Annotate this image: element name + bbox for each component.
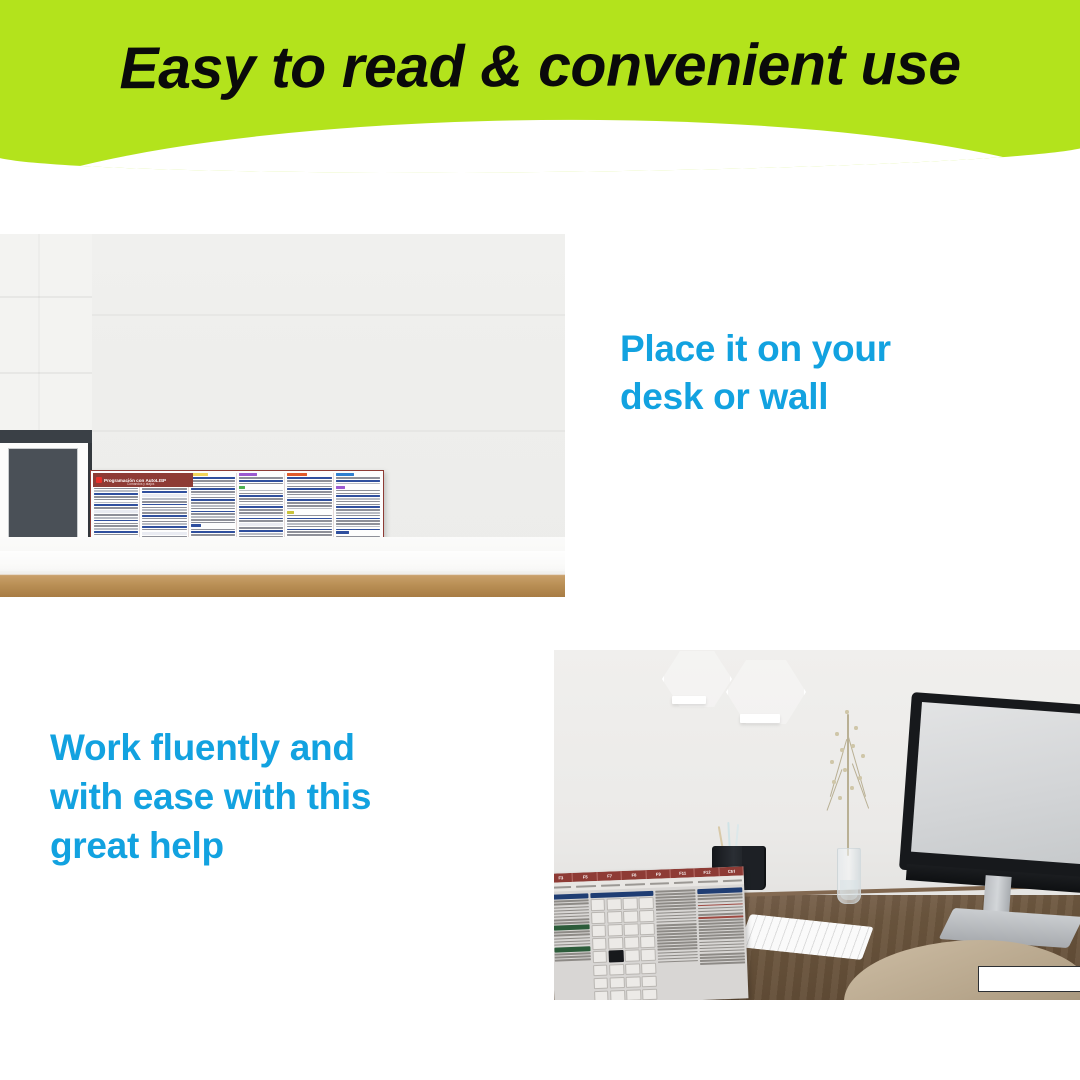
banner-curve-decoration <box>0 114 1080 177</box>
hexagon-shelf-ledge <box>740 714 780 723</box>
product-photo-desk-laptop: Programación con AutoLISP Comandos y ata… <box>0 234 565 597</box>
imac-screen <box>911 702 1080 865</box>
caption-line: with ease with this <box>50 773 520 822</box>
caption-place-it: Place it on your desk or wall <box>620 325 1040 421</box>
poster-logo-icon <box>96 477 102 483</box>
mat-section-label <box>554 946 590 952</box>
dried-flowers <box>826 710 872 855</box>
mat-column <box>655 889 700 999</box>
glass-vase <box>837 848 861 904</box>
page-title: Easy to read & convenient use <box>0 29 1080 103</box>
mat-column-keygrid <box>590 891 657 1000</box>
white-label-box <box>978 966 1080 992</box>
caption-work-fluently: Work fluently and with ease with this gr… <box>50 724 520 870</box>
poster-subtitle: Comandos y atajos <box>127 482 154 486</box>
caption-line: desk or wall <box>620 373 1040 421</box>
mat-key-grid <box>590 897 657 1000</box>
desk-mat-cheatsheet: F3 F5 F7 F8 F9 F11 F12 Ctrl <box>554 866 748 1000</box>
product-photo-desk-imac: F3 F5 F7 F8 F9 F11 F12 Ctrl <box>554 650 1080 1000</box>
marketing-page: Easy to read & convenient use <box>0 0 1080 1080</box>
mat-body <box>554 885 748 1000</box>
caption-line: great help <box>50 822 520 871</box>
vase-water <box>840 880 858 900</box>
caption-line: Place it on your <box>620 325 1040 373</box>
frame-top-shelf <box>0 430 92 443</box>
mat-column <box>554 893 592 1000</box>
desk-gloss <box>0 551 565 571</box>
mat-section-label <box>554 924 590 930</box>
mat-section-label <box>554 893 588 899</box>
hexagon-shelf-ledge <box>672 696 706 704</box>
caption-line: Work fluently and <box>50 724 520 773</box>
mat-column <box>697 887 746 998</box>
poster-title-bar: Programación con AutoLISP Comandos y ata… <box>93 473 193 487</box>
